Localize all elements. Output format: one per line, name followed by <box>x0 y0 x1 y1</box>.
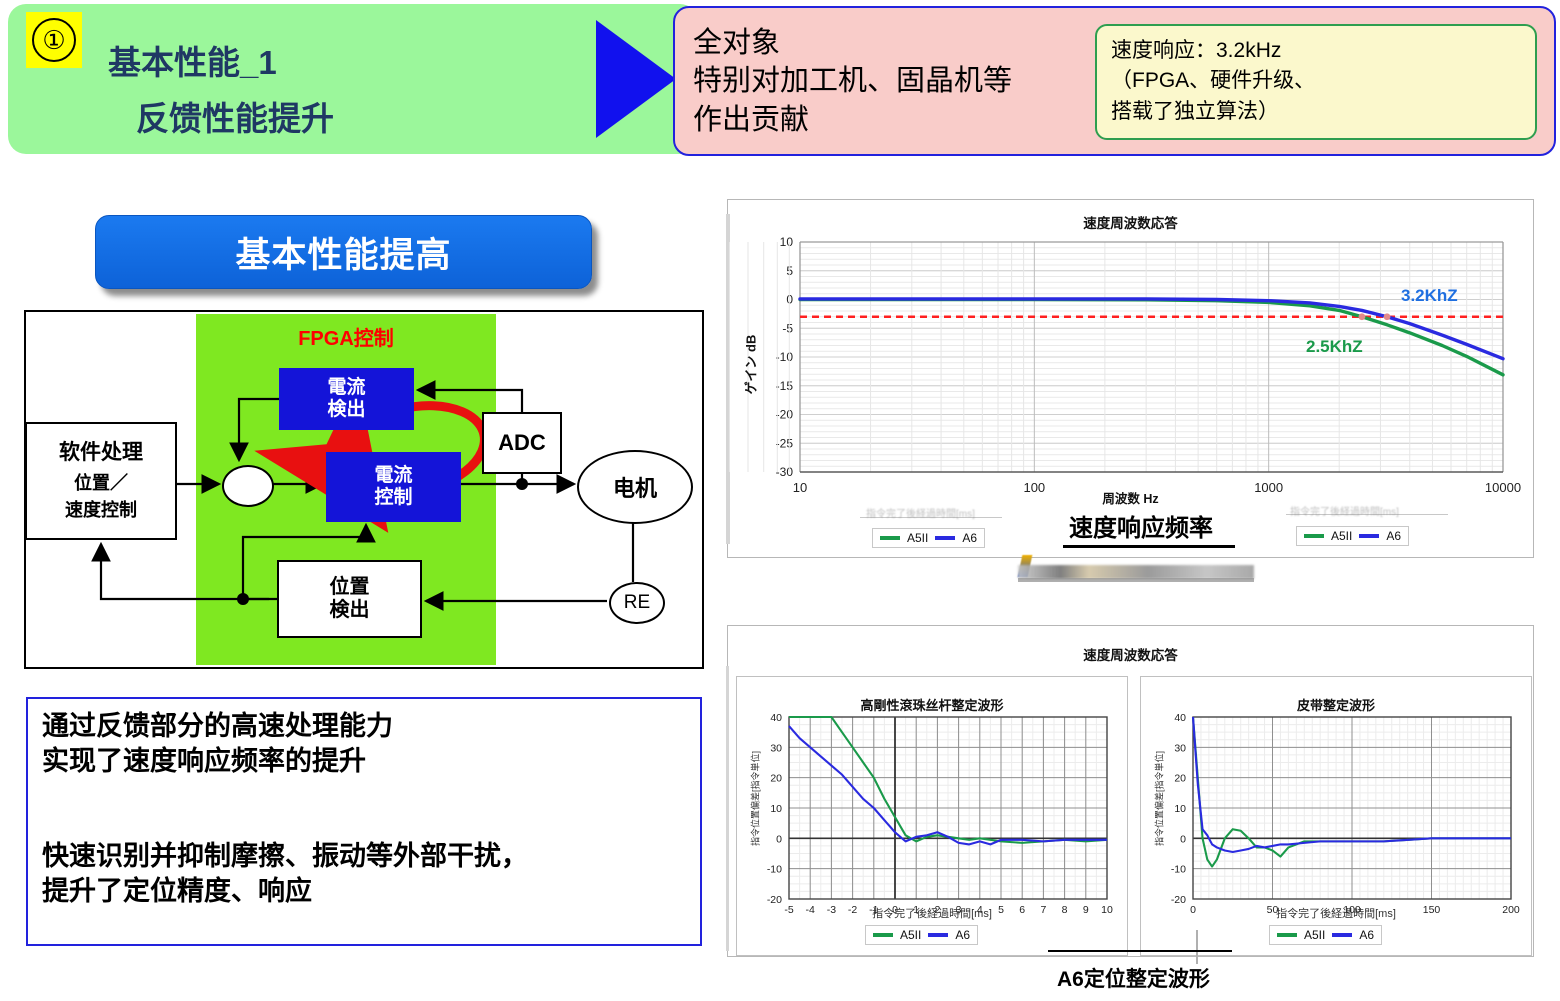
position-detect-block: 位置 検出 <box>277 560 422 638</box>
software-line3: 速度控制 <box>65 500 137 521</box>
svg-text:5: 5 <box>786 264 793 278</box>
svg-text:40: 40 <box>1174 712 1186 724</box>
svg-text:-10: -10 <box>767 864 782 876</box>
legend-label-a6: A6 <box>1386 529 1401 543</box>
svg-text:-15: -15 <box>776 379 794 393</box>
ghost-caption-left: 指令完了後経過時間[ms] <box>866 505 975 520</box>
current-control-block: 電流 控制 <box>326 452 461 522</box>
legend-label-a5ii: A5II <box>1304 928 1325 942</box>
ghost-caption-right: 指令完了後経過時間[ms] <box>1290 503 1399 518</box>
header-yellow-callout: 速度响应：3.2kHz （FPGA、硬件升级、 搭载了独立算法） <box>1095 24 1537 140</box>
software-title: 软件处理 <box>59 441 143 465</box>
legend-swatch-a5ii <box>1277 933 1297 937</box>
software-processing-block: 软件处理 位置／ 速度控制 <box>25 422 177 540</box>
header-target-text: 全对象 特别对加工机、固晶机等 作出贡献 <box>693 24 1012 139</box>
ghost-strip <box>1018 565 1254 579</box>
legend-label-a6: A6 <box>955 928 970 942</box>
note-paragraph-2: 快速识别并抑制摩擦、振动等外部干扰， 提升了定位精度、响应 <box>42 839 528 908</box>
caption-underline <box>1048 950 1232 952</box>
header-spec-text: 速度响应：3.2kHz （FPGA、硬件升级、 搭载了独立算法） <box>1111 36 1315 127</box>
note-paragraph-1: 通过反馈部分的高速处理能力 实现了速度响应频率的提升 <box>42 709 393 778</box>
svg-text:-10: -10 <box>1171 864 1186 876</box>
pill-label: 基本性能提高 <box>235 227 451 278</box>
svg-text:0: 0 <box>1180 833 1186 845</box>
legend-label-a5ii: A5II <box>1331 529 1352 543</box>
section-number-badge: ① <box>26 12 82 68</box>
header-title-line1: 基本性能_1 <box>108 36 277 84</box>
svg-text:10: 10 <box>780 235 794 249</box>
legend-label-a5ii: A5II <box>900 928 921 942</box>
legend-label-a5ii: A5II <box>907 531 928 545</box>
basic-performance-pill: 基本性能提高 <box>95 215 592 289</box>
legend-label-a6: A6 <box>962 531 977 545</box>
legend-swatch-a5ii <box>1304 534 1324 538</box>
speed-response-heading: 速度响应频率 <box>1069 508 1213 543</box>
adc-block: ADC <box>482 412 562 474</box>
svg-text:40: 40 <box>770 712 782 724</box>
ghost-legend-left: A5II A6 <box>872 528 985 548</box>
legend-label-a6: A6 <box>1359 928 1374 942</box>
svg-text:-20: -20 <box>776 408 794 422</box>
svg-text:20: 20 <box>1174 773 1186 785</box>
legend-swatch-a6 <box>1359 534 1379 538</box>
slide-header: ① 基本性能_1 反馈性能提升 全对象 特别对加工机、固晶机等 作出贡献 速度响… <box>8 4 1552 154</box>
annotation-3200hz: 3.2KhZ <box>1401 286 1458 306</box>
settling-waveform-panel: 速度周波数応答 高剛性滾珠丝杆整定波形 -20-10010203040-5-4-… <box>727 625 1534 957</box>
frequency-response-panel: 速度周波数応答 -30-25-20-15-10-5051010100100010… <box>727 199 1534 558</box>
ballscrew-subpanel: 高剛性滾珠丝杆整定波形 -20-10010203040-5-4-3-2-1012… <box>736 676 1128 956</box>
section-number-circle: ① <box>32 18 76 62</box>
right-triangle-arrow-icon <box>596 20 676 138</box>
svg-text:-25: -25 <box>776 436 794 450</box>
belt-subpanel: 皮带整定波形 -20-10010203040050100150200 指令完了後… <box>1140 676 1532 956</box>
svg-text:-30: -30 <box>776 465 794 479</box>
svg-text:10: 10 <box>1174 803 1186 815</box>
svg-text:-5: -5 <box>782 321 793 335</box>
summing-junction-node <box>222 465 274 507</box>
caption-vertical-rule <box>1196 930 1198 964</box>
top-chart-ylabel: ゲイン dB <box>741 325 760 405</box>
svg-text:0: 0 <box>776 833 782 845</box>
panel-edge-bar <box>726 666 729 951</box>
svg-text:-10: -10 <box>776 350 794 364</box>
ballscrew-ylabel: 指令位置偏差[指令単位] <box>749 739 762 859</box>
ballscrew-xlabel: 指令完了後経過時間[ms] <box>737 905 1127 921</box>
ghost-legend-right: A5II A6 <box>1296 526 1409 546</box>
belt-legend: A5II A6 <box>1269 925 1382 945</box>
legend-swatch-a6 <box>935 536 955 540</box>
current-detect-block: 電流 検出 <box>279 368 414 430</box>
header-pink-panel: 全对象 特别对加工机、固晶机等 作出贡献 速度响应：3.2kHz （FPGA、硬… <box>673 6 1556 156</box>
ballscrew-legend: A5II A6 <box>865 925 978 945</box>
svg-text:0: 0 <box>786 293 793 307</box>
software-line2: 位置／ <box>74 473 128 494</box>
svg-text:30: 30 <box>770 742 782 754</box>
control-block-diagram: FPGA控制 <box>24 310 704 669</box>
motor-block: 电机 <box>577 450 693 524</box>
svg-text:30: 30 <box>1174 742 1186 754</box>
legend-swatch-a6 <box>1332 933 1352 937</box>
summary-note-box: 通过反馈部分的高速处理能力 实现了速度响应频率的提升 快速识别并抑制摩擦、振动等… <box>26 697 702 946</box>
top-chart-xlabel: 周波数 Hz <box>728 488 1533 507</box>
legend-swatch-a5ii <box>880 536 900 540</box>
bottom-caption: A6定位整定波形 <box>1057 963 1210 993</box>
header-green-panel: ① 基本性能_1 反馈性能提升 <box>8 4 698 154</box>
bottom-panel-title: 速度周波数応答 <box>728 644 1533 664</box>
annotation-2500hz: 2.5KhZ <box>1306 337 1363 357</box>
header-title-line2: 反馈性能提升 <box>136 92 334 140</box>
belt-xlabel: 指令完了後経過時間[ms] <box>1141 905 1531 921</box>
legend-swatch-a5ii <box>873 933 893 937</box>
svg-text:20: 20 <box>770 773 782 785</box>
encoder-block: RE <box>609 582 665 624</box>
ghost-strip-base <box>1018 578 1254 582</box>
belt-ylabel: 指令位置偏差[指令単位] <box>1153 739 1166 859</box>
legend-swatch-a6 <box>928 933 948 937</box>
speed-response-underline <box>1063 545 1235 548</box>
svg-text:10: 10 <box>770 803 782 815</box>
